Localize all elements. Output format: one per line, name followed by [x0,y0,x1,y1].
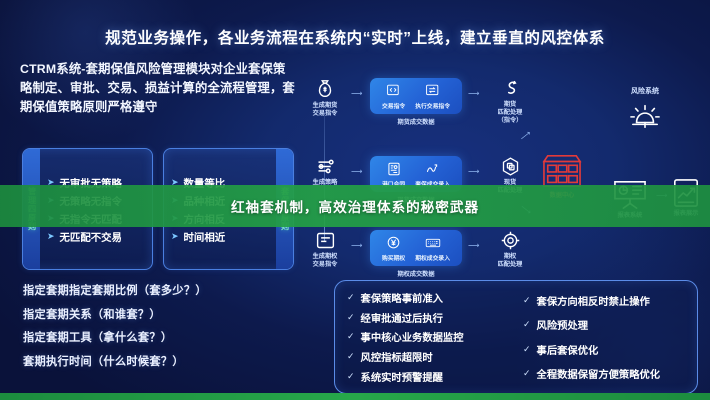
flow-node-futures-matching: 期货 匹配处理 （指令） [486,78,534,124]
arrow-right-icon: ⟶ [351,168,362,176]
flow-box-cell: 交易指令 [382,83,405,110]
checklist-item-label: 系统实时预警提醒 [361,369,443,384]
flow-node-generate-strategy: 生成策略 [302,156,348,187]
flow-node-label: 生成期货 交易指令 [302,102,348,118]
flow-cell-label: 期权成交录入 [415,253,450,262]
flow-node-generate-options-order: 生成期权 交易指令 [302,230,348,269]
flow-node-label: 期货 匹配处理 （指令） [486,101,534,124]
flow-node-label: 期权 匹配处理 [486,253,534,269]
flow-node-options-matching: 期权 匹配处理 [486,230,534,269]
check-icon: ✓ [347,351,355,362]
process-flow-diagram: 生成期货 交易指令 ⟶ 交易指令 [296,78,596,268]
checklist-item-label: 风险预处理 [537,317,588,332]
checklist-item: ✓ 风险预处理 [523,317,687,332]
transfer-icon [424,83,442,99]
question-list: 指定套期指定套期比例（套多少？） 指定套期关系（和谁套？） 指定套期工具（拿什么… [23,282,303,369]
sliders-icon [302,156,348,177]
flow-box-futures: 交易指令 执行交易指令 [370,78,462,114]
checklist-item: ✓ 系统实时预警提醒 [347,369,511,384]
checklist-item-label: 套保策略事前准入 [361,290,443,305]
check-icon: ✓ [347,312,355,323]
checklist-column-left: ✓ 套保策略事前准入 ✓ 经审批通过后执行 ✓ 事中核心业务数据监控 ✓ 风控指… [347,288,511,386]
question-item: 指定套期关系（和谁套？） [23,306,303,322]
checklist-column-right: ✓ 套保方向相反时禁止操作 ✓ 风险预处理 ✓ 事后套保优化 ✓ 全程数据保留方… [523,288,687,386]
cube-hex-icon [486,156,534,177]
flow-node-generate-futures-order: 生成期货 交易指令 [302,78,348,118]
overlay-banner-text: 红袖套机制，高效治理体系的秘密武器 [231,196,479,216]
flow-cell-label: 执行交易指令 [415,101,450,110]
yen-icon [385,235,403,251]
bottom-accent-strip [0,393,710,400]
checklist-panel: ✓ 套保策略事前准入 ✓ 经审批通过后执行 ✓ 事中核心业务数据监控 ✓ 风控指… [334,280,698,394]
intro-paragraph: CTRM系统-套期保值风险管理模块对企业套保策略制定、审批、交易、损益计算的全流… [20,60,298,117]
question-item: 指定套期指定套期比例（套多少？） [23,282,303,298]
arrow-bullet-icon: ➤ [171,232,179,241]
arrow-right-icon: ⟶ [468,90,479,98]
check-icon: ✓ [523,368,531,379]
flow-box-cell: 执行交易指令 [415,83,450,110]
checklist-item: ✓ 事后套保优化 [523,342,687,357]
checklist-item-label: 经审批通过后执行 [361,310,443,325]
arrow-diagonal-icon: ⟶ [519,129,533,142]
checklist-item-label: 全程数据保留方便策略优化 [537,366,661,381]
flow-node-label: 生成期权 交易指令 [302,253,348,269]
downstream-systems-column: 风险系统 报表系统 [596,86,704,266]
arrow-right-icon: ⟶ [468,242,479,250]
page-title: 规范业务操作，各业务流程在系统内“实时”上线，建立垂直的风控体系 [0,26,710,48]
panel-item-label: 无匹配不交易 [60,229,122,244]
trend-icon [424,161,442,177]
arrow-bullet-icon: ➤ [47,232,55,241]
system-node-label: 风险系统 [610,88,680,97]
panel-item-label: 时间相近 [184,229,226,244]
checklist-item: ✓ 套保策略事前准入 [347,290,511,305]
arrow-right-icon: ⟶ [468,168,479,176]
flow-box-cell: 套保成交录入 [415,161,450,188]
panel-item: ➤ 时间相近 [171,229,272,244]
slide-canvas: 规范业务操作，各业务流程在系统内“实时”上线，建立垂直的风控体系 CTRM系统-… [0,0,710,400]
checklist-item-label: 套保方向相反时禁止操作 [537,293,650,308]
flow-box-caption: 期权成交数据 [370,269,462,278]
check-icon: ✓ [347,292,355,303]
panel-item: ➤ 无匹配不交易 [47,229,148,244]
flow-cell-label: 交易指令 [382,101,405,110]
checklist-item-label: 事后套保优化 [537,342,599,357]
checklist-item: ✓ 套保方向相反时禁止操作 [523,293,687,308]
flow-box-cell: 期权成交录入 [415,235,450,262]
check-icon: ✓ [523,295,531,306]
checklist-item: ✓ 全程数据保留方便策略优化 [523,366,687,381]
contract-icon [385,161,403,177]
question-item: 指定套期工具（拿什么套？） [23,329,303,345]
arrow-right-icon: ⟶ [351,90,362,98]
swirl-icon [486,78,534,99]
flow-box-caption: 期货成交数据 [370,117,462,126]
question-item: 套期执行时间（什么时候套？） [23,353,303,369]
arrow-right-icon: ⟶ [351,242,362,250]
check-icon: ✓ [523,319,531,330]
check-icon: ✓ [347,371,355,382]
flow-cell-label: 购买期权 [382,253,405,262]
system-node-risk: 风险系统 [610,86,680,130]
options-icon [302,230,348,251]
checklist-item-label: 风控指标超限时 [361,349,433,364]
flow-box-cell: 购买期权 [382,235,405,262]
checklist-item: ✓ 事中核心业务数据监控 [347,329,511,344]
check-icon: ✓ [347,331,355,342]
target-icon [486,230,534,251]
check-icon: ✓ [523,344,531,355]
overlay-banner: 红袖套机制，高效治理体系的秘密武器 [0,185,710,227]
checklist-item-label: 事中核心业务数据监控 [361,329,464,344]
alarm-light-icon [610,100,680,130]
money-bag-icon [302,78,348,100]
flow-box-cell: 港口合同 [382,161,405,188]
keyboard-icon [424,235,442,251]
checklist-item: ✓ 经审批通过后执行 [347,310,511,325]
checklist-item: ✓ 风控指标超限时 [347,349,511,364]
code-window-icon [385,83,403,99]
flow-box-options: 购买期权 期权成交录入 [370,230,462,266]
